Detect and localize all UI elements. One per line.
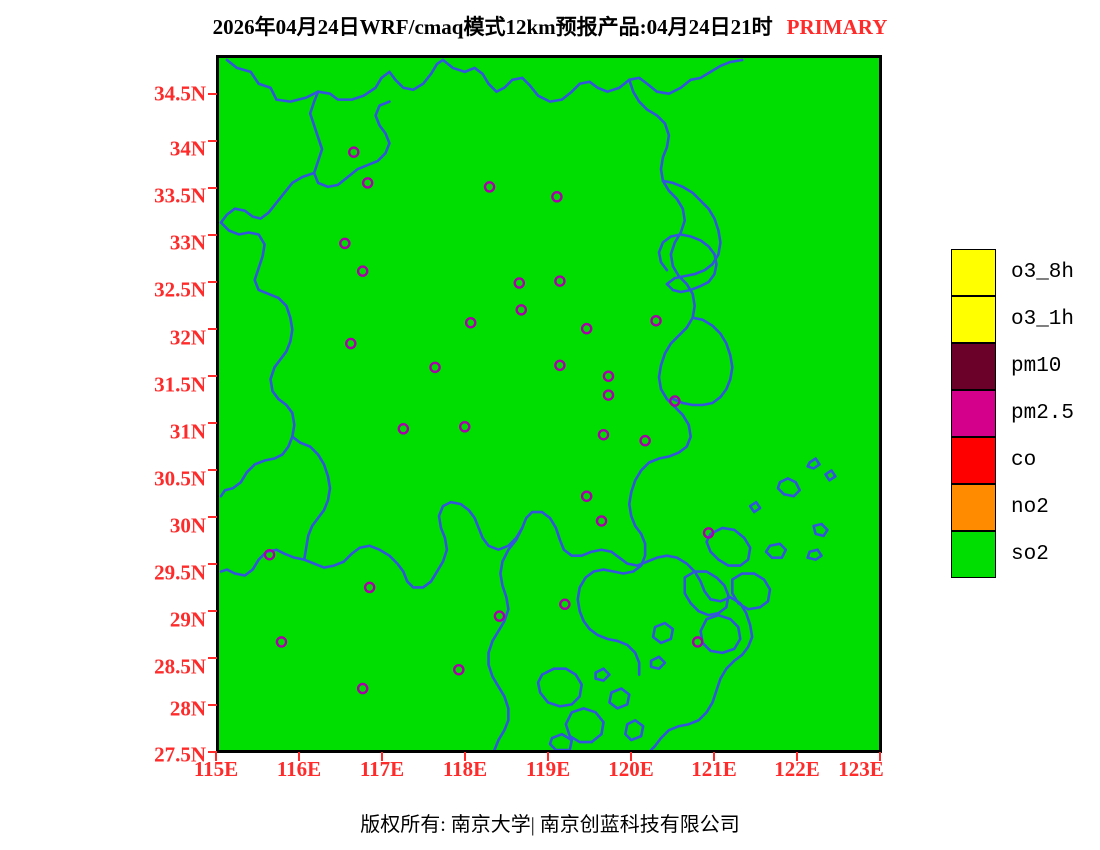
y-axis-tick xyxy=(208,375,217,377)
x-axis-tick xyxy=(547,752,549,761)
legend-label: pm10 xyxy=(1011,356,1061,377)
legend-label: no2 xyxy=(1011,497,1049,518)
x-tick-label: 123E xyxy=(838,757,884,782)
legend-swatch xyxy=(951,390,996,437)
y-axis-tick xyxy=(208,328,217,330)
legend-swatch xyxy=(951,296,996,343)
y-axis-tick xyxy=(208,516,217,518)
y-axis-tick xyxy=(208,93,217,95)
y-tick-label: 32.5N xyxy=(130,278,206,303)
pollutant-legend: o3_8h o3_1h pm10 pm2.5 co no2 so2 xyxy=(951,249,1074,578)
legend-swatch xyxy=(951,531,996,578)
copyright-footer: 版权所有: 南京大学| 南京创蓝科技有限公司 xyxy=(0,808,1100,837)
x-axis-tick xyxy=(796,752,798,761)
legend-label: o3_1h xyxy=(1011,309,1074,330)
legend-label: pm2.5 xyxy=(1011,403,1074,424)
y-tick-label: 29N xyxy=(130,608,206,633)
x-axis-tick xyxy=(298,752,300,761)
y-tick-label: 28N xyxy=(130,697,206,722)
legend-item-pm2.5[interactable]: pm2.5 xyxy=(951,390,1074,437)
y-axis-tick xyxy=(208,704,217,706)
y-tick-label: 33.5N xyxy=(130,184,206,209)
legend-label: co xyxy=(1011,450,1036,471)
legend-item-co[interactable]: co xyxy=(951,437,1074,484)
chart-title: 2026年04月24日WRF/cmaq模式12km预报产品:04月24日21时P… xyxy=(0,11,1100,39)
legend-item-so2[interactable]: so2 xyxy=(951,531,1074,578)
x-axis-tick xyxy=(464,752,466,761)
y-tick-label: 29.5N xyxy=(130,561,206,586)
x-axis-tick xyxy=(381,752,383,761)
legend-item-o3_8h[interactable]: o3_8h xyxy=(951,249,1074,296)
y-axis-tick xyxy=(208,422,217,424)
map-plot-area[interactable] xyxy=(216,55,882,753)
y-tick-label: 34.5N xyxy=(130,82,206,107)
legend-swatch xyxy=(951,343,996,390)
y-tick-label: 30.5N xyxy=(130,467,206,492)
y-axis-tick xyxy=(208,281,217,283)
legend-label: so2 xyxy=(1011,544,1049,565)
y-axis-tick xyxy=(208,187,217,189)
y-tick-label: 30N xyxy=(130,514,206,539)
title-primary-badge: PRIMARY xyxy=(787,15,888,39)
x-axis-tick xyxy=(713,752,715,761)
x-axis-tick xyxy=(215,752,217,761)
x-axis-tick xyxy=(879,752,881,761)
y-axis-tick xyxy=(208,469,217,471)
legend-item-o3_1h[interactable]: o3_1h xyxy=(951,296,1074,343)
y-axis-tick xyxy=(208,610,217,612)
y-tick-label: 28.5N xyxy=(130,655,206,680)
y-tick-label: 34N xyxy=(130,137,206,162)
legend-label: o3_8h xyxy=(1011,262,1074,283)
title-main-text: 2026年04月24日WRF/cmaq模式12km预报产品:04月24日21时 xyxy=(213,15,773,39)
legend-item-no2[interactable]: no2 xyxy=(951,484,1074,531)
legend-swatch xyxy=(951,437,996,484)
y-axis-tick xyxy=(208,657,217,659)
y-tick-label: 31N xyxy=(130,420,206,445)
legend-swatch xyxy=(951,249,996,296)
y-axis-tick xyxy=(208,563,217,565)
y-tick-label: 33N xyxy=(130,231,206,256)
y-axis-tick xyxy=(208,140,217,142)
map-vector-layer xyxy=(219,58,879,750)
coastline xyxy=(538,181,835,750)
legend-item-pm10[interactable]: pm10 xyxy=(951,343,1074,390)
station-markers xyxy=(265,148,713,693)
x-axis-tick xyxy=(630,752,632,761)
y-tick-label: 32N xyxy=(130,326,206,351)
y-axis-tick xyxy=(208,234,217,236)
screenshot-root: 2026年04月24日WRF/cmaq模式12km预报产品:04月24日21时P… xyxy=(0,0,1100,850)
y-tick-label: 31.5N xyxy=(130,373,206,398)
legend-swatch xyxy=(951,484,996,531)
